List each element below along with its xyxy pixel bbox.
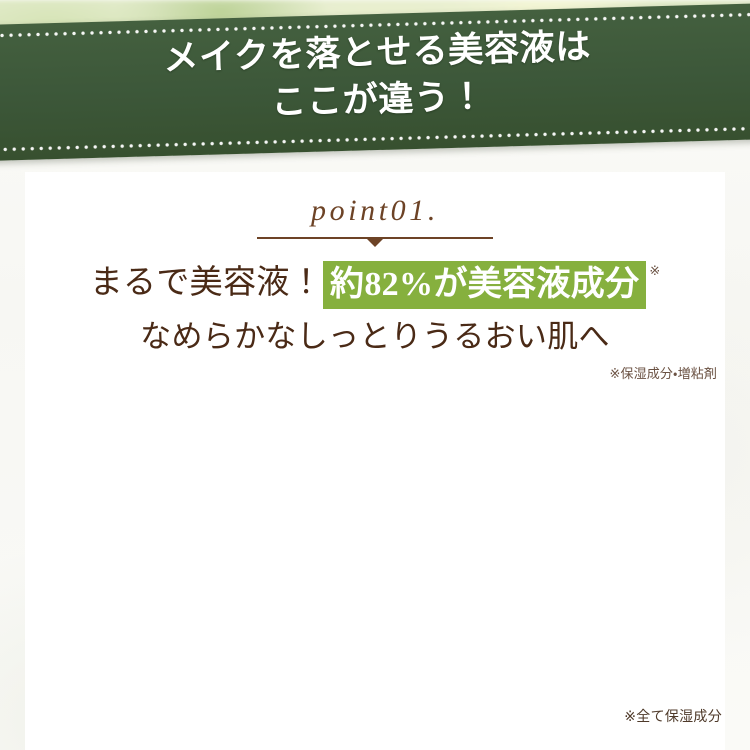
- advertisement-page: メイクを落とせる美容液は ここが違う！ point01. まるで美容液！ 約82…: [0, 0, 750, 750]
- point-divider-rule: [257, 237, 493, 239]
- point-label-block: point01.: [25, 196, 725, 239]
- headline-highlight-badge: 約82%が美容液成分: [323, 261, 646, 309]
- bottom-footnote: ※全て保湿成分: [624, 706, 722, 726]
- headline-asterisk-mark: ※: [646, 261, 660, 277]
- headline-block: まるで美容液！ 約82%が美容液成分 ※ なめらかなしっとりうるおい肌へ ※保湿…: [25, 261, 725, 382]
- content-card: point01. まるで美容液！ 約82%が美容液成分 ※ なめらかなしっとりう…: [25, 172, 725, 750]
- headline-footnote: ※保湿成分・増粘剤: [25, 363, 725, 382]
- headline-row-2: なめらかなしっとりうるおい肌へ: [25, 318, 725, 355]
- banner-heading-line1: メイクを落とせる美容液は: [163, 27, 592, 78]
- headline-lead-text: まるで美容液！: [90, 261, 323, 304]
- banner-heading: メイクを落とせる美容液は ここが違う！: [0, 19, 750, 135]
- header-banner: メイクを落とせる美容液は ここが違う！: [0, 3, 750, 162]
- banner-heading-line2: ここが違う！: [0, 65, 750, 134]
- headline-row-1: まるで美容液！ 約82%が美容液成分 ※: [25, 261, 725, 309]
- point-label: point01.: [25, 196, 725, 226]
